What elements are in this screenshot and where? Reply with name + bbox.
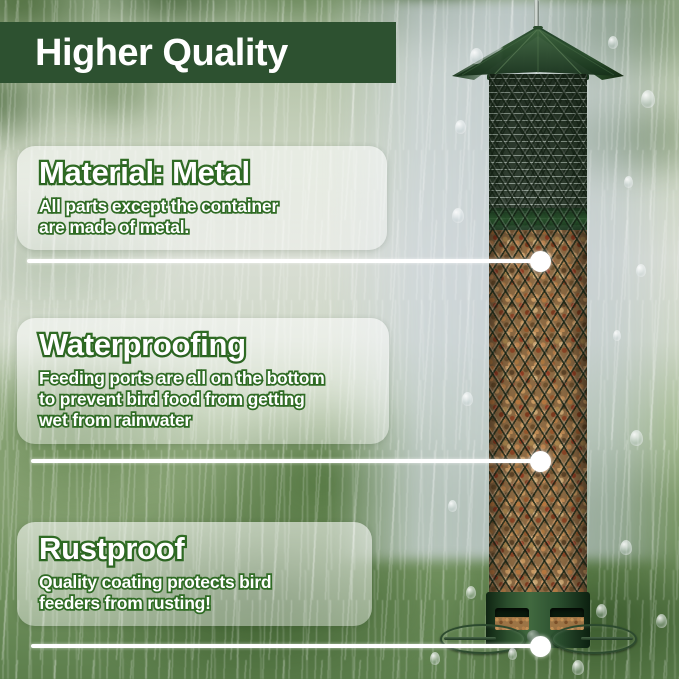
callout-body-line: Quality coating protects bird — [39, 572, 354, 593]
connector-dot-rustproof — [530, 636, 551, 657]
water-droplet — [430, 652, 440, 665]
water-droplet — [613, 330, 621, 341]
callout-card-material: Material: Metal All parts except the con… — [17, 146, 387, 250]
callout-body-rustproof: Quality coating protects bird feeders fr… — [39, 572, 354, 615]
water-droplet — [620, 540, 632, 555]
callout-body-waterproofing: Feeding ports are all on the bottom to p… — [39, 368, 371, 432]
water-droplet — [596, 604, 607, 618]
connector-dot-material — [530, 251, 551, 272]
water-droplet — [624, 176, 633, 188]
connector-line-material — [27, 259, 542, 263]
callout-title-rustproof: Rustproof — [39, 532, 354, 567]
connector-line-rustproof — [31, 644, 542, 648]
callout-body-line: All parts except the container — [39, 196, 369, 217]
water-droplet — [452, 208, 464, 223]
water-droplet — [448, 500, 457, 512]
callout-body-line: are made of metal. — [39, 217, 369, 238]
water-droplet — [462, 392, 473, 406]
water-droplet — [641, 90, 655, 108]
connector-line-waterproofing — [31, 459, 542, 463]
water-droplet — [656, 614, 667, 628]
water-droplet — [466, 586, 476, 599]
perch-bar-left — [444, 637, 496, 640]
callout-body-line: feeders from rusting! — [39, 593, 354, 614]
callout-body-material: All parts except the container are made … — [39, 196, 369, 239]
perch-bar-right — [581, 637, 633, 640]
callout-card-rustproof: Rustproof Quality coating protects bird … — [17, 522, 372, 626]
water-droplet — [455, 120, 466, 134]
callout-body-line: wet from rainwater — [39, 410, 371, 431]
diamond-mesh-overlay — [489, 74, 587, 598]
water-droplet — [636, 264, 646, 277]
page-title: Higher Quality — [0, 34, 288, 72]
mesh-cage-body — [489, 74, 587, 598]
connector-dot-waterproofing — [530, 451, 551, 472]
callout-card-waterproofing: Waterproofing Feeding ports are all on t… — [17, 318, 389, 444]
header-banner: Higher Quality — [0, 22, 396, 83]
water-droplet — [630, 430, 643, 446]
water-droplet — [572, 660, 584, 675]
callout-title-waterproofing: Waterproofing — [39, 328, 371, 363]
callout-body-line: Feeding ports are all on the bottom — [39, 368, 371, 389]
feeder-roof — [452, 26, 624, 80]
callout-body-line: to prevent bird food from getting — [39, 389, 371, 410]
callout-title-material: Material: Metal — [39, 156, 369, 191]
